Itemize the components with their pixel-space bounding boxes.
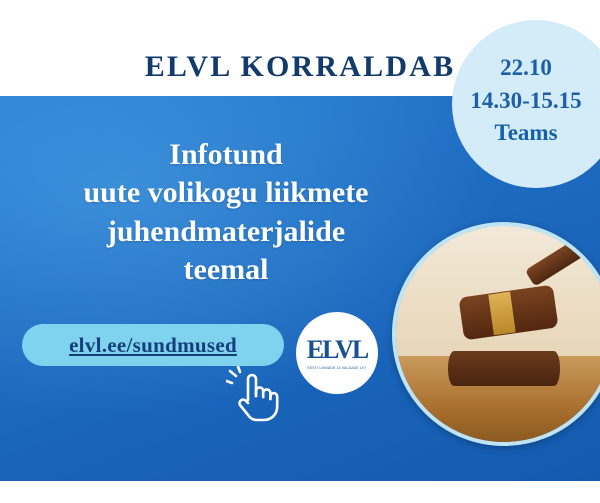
event-datetime: 22.10 14.30-15.15 Teams	[452, 52, 600, 150]
photo-background	[396, 226, 600, 442]
organization-logo: ELVL EESTI LINNADE JA VALDADE LIIT	[296, 312, 378, 394]
logo-monogram: ELVL	[307, 337, 367, 363]
event-link-label: elvl.ee/sundmused	[69, 333, 237, 358]
poster-image: ELVL KORRALDAB Infotund uute volikogu li…	[0, 0, 600, 503]
event-description-line-3: juhendmaterjalide	[6, 213, 446, 251]
bottom-white-band	[0, 481, 600, 503]
event-link-button[interactable]: elvl.ee/sundmused	[22, 324, 284, 366]
event-description-line-1: Infotund	[6, 136, 446, 174]
event-description-line-4: teemal	[6, 251, 446, 289]
event-date: 22.10	[452, 52, 600, 85]
event-description-line-2: uute volikogu liikmete	[6, 174, 446, 212]
gavel-sound-block	[448, 351, 560, 386]
logo-caption: EESTI LINNADE JA VALDADE LIIT	[307, 366, 366, 370]
event-description: Infotund uute volikogu liikmete juhendma…	[6, 136, 446, 290]
event-platform: Teams	[452, 117, 600, 150]
event-time: 14.30-15.15	[452, 85, 600, 118]
pointing-hand-cursor-icon	[226, 366, 280, 424]
judge-gavel-photo	[392, 222, 600, 446]
